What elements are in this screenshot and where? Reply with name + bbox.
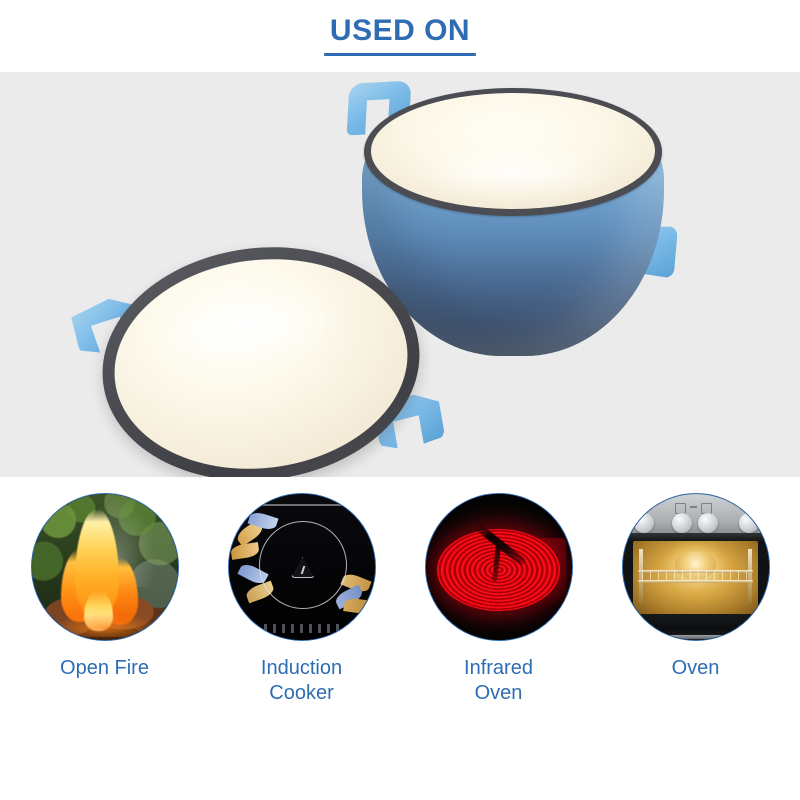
usecase-label-oven: Oven bbox=[672, 656, 720, 681]
oven-door-handle bbox=[631, 635, 759, 639]
control-panel-strip bbox=[264, 624, 340, 633]
usecase-label-infrared-oven: Infrared Oven bbox=[464, 656, 533, 706]
oven-knob bbox=[672, 513, 692, 533]
oven-knob bbox=[634, 513, 654, 533]
lid-enamel-face bbox=[102, 243, 419, 477]
usecase-label-induction-cooker: Induction Cooker bbox=[261, 656, 342, 706]
hero-product-panel bbox=[0, 72, 800, 477]
oven-rack-grid bbox=[642, 571, 750, 580]
campfire-icon bbox=[31, 493, 179, 641]
usecase-row: Open Fire Induction Cooker bbox=[0, 477, 800, 800]
title-underline bbox=[324, 53, 476, 56]
oven-control-panel bbox=[623, 494, 769, 533]
infrared-burner-icon bbox=[425, 493, 573, 641]
usecase-item-infrared-oven: Infrared Oven bbox=[406, 493, 592, 706]
oven-rack bbox=[638, 580, 754, 583]
oven-icon bbox=[622, 493, 770, 641]
leaf-decoration bbox=[231, 542, 261, 560]
oven-door bbox=[623, 614, 769, 640]
leaf-decoration bbox=[343, 597, 373, 615]
cooktop-top-edge bbox=[240, 504, 363, 506]
header: USED ON bbox=[0, 0, 800, 72]
induction-cooktop-icon bbox=[228, 493, 376, 641]
oven-knob bbox=[698, 513, 718, 533]
oven-door-top-edge bbox=[623, 533, 769, 540]
usecase-item-oven: Oven bbox=[603, 493, 789, 681]
page-title: USED ON bbox=[330, 16, 470, 46]
dutch-oven-lid-image bbox=[74, 228, 442, 477]
oven-cavity bbox=[633, 541, 759, 614]
pot-enamel-interior bbox=[371, 93, 655, 209]
display-dash bbox=[690, 506, 697, 508]
oven-knob bbox=[739, 513, 759, 533]
usecase-item-open-fire: Open Fire bbox=[12, 493, 198, 681]
embers-glow bbox=[52, 614, 157, 637]
usecase-item-induction-cooker: Induction Cooker bbox=[209, 493, 395, 706]
usecase-label-open-fire: Open Fire bbox=[60, 656, 149, 681]
